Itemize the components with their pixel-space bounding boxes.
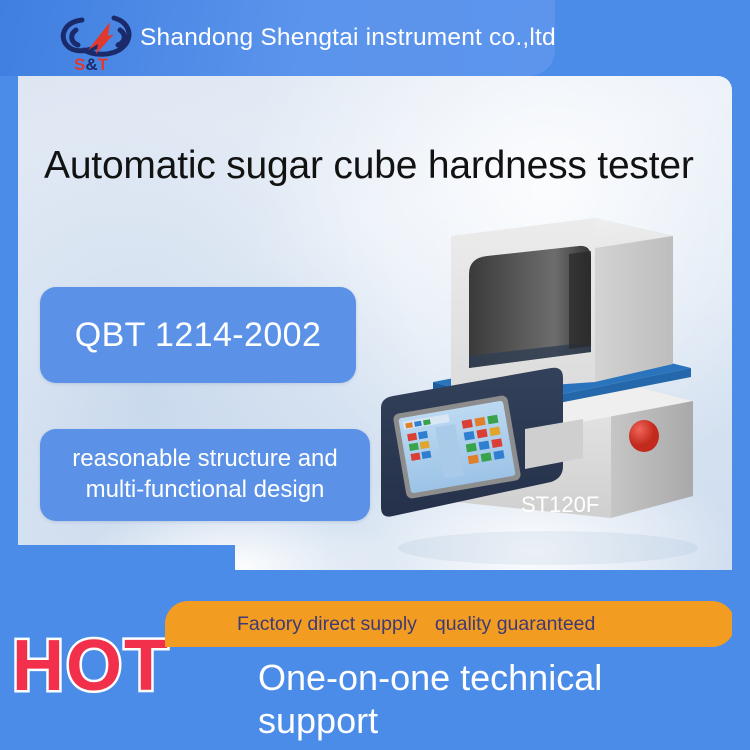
badge-feature: reasonable structure and multi-functiona…: [40, 429, 370, 521]
promo-poster: Automatic sugar cube hardness tester QBT…: [0, 0, 750, 750]
logo-text: S&T: [74, 55, 109, 74]
support-line1: One-on-one technical: [258, 657, 738, 699]
badge-standard-label: QBT 1214-2002: [75, 316, 322, 355]
ribbon-text: Factory direct supplyquality guaranteed: [237, 613, 595, 636]
product-image: ST120F: [373, 196, 723, 576]
ribbon-text-right: quality guaranteed: [435, 613, 595, 635]
page-title: Automatic sugar cube hardness tester: [44, 144, 732, 188]
badge-standard: QBT 1214-2002: [40, 287, 356, 383]
support-line2: support: [258, 700, 738, 742]
company-name: Shandong Shengtai instrument co.,ltd: [140, 0, 556, 76]
promo-ribbon: Factory direct supplyquality guaranteed: [165, 601, 735, 647]
content-card: Automatic sugar cube hardness tester QBT…: [18, 76, 732, 596]
support-text: One-on-one technical support: [258, 657, 738, 742]
badge-feature-line1: reasonable structure and: [72, 444, 338, 475]
badge-feature-line2: multi-functional design: [86, 475, 325, 506]
swirl-arrow-logo-icon: S&T: [52, 6, 148, 76]
product-model-text: ST120F: [521, 492, 599, 517]
right-blue-rail: [732, 0, 750, 750]
ribbon-text-left: Factory direct supply: [237, 613, 417, 635]
hot-badge: HOT: [12, 630, 170, 702]
company-logo: S&T: [52, 6, 148, 76]
left-blue-rail: [0, 76, 18, 596]
